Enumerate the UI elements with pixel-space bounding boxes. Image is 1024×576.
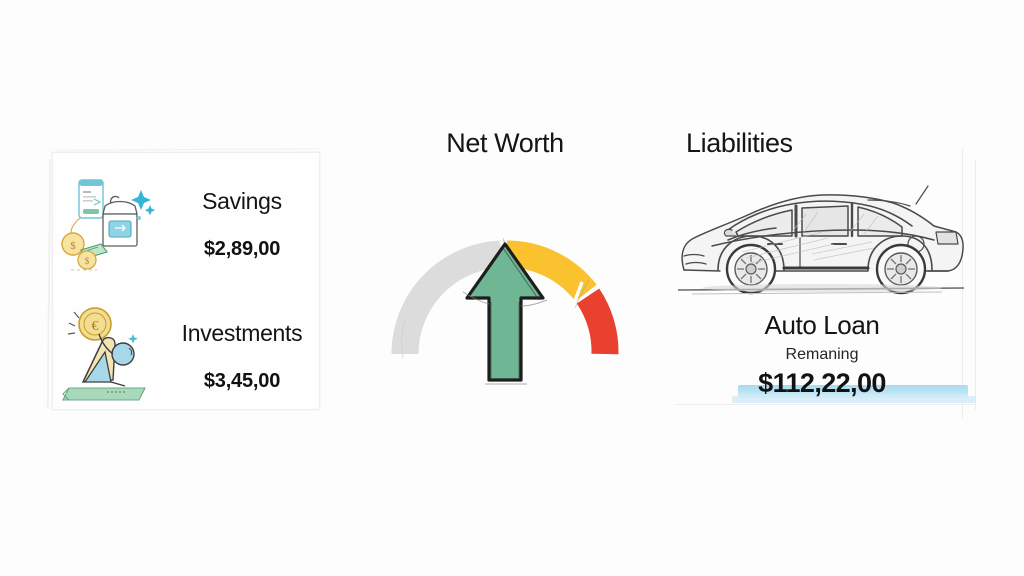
dashboard-canvas: $ $ xyxy=(0,0,1024,576)
loan-name: Auto Loan xyxy=(765,310,880,341)
assets-card: $ $ xyxy=(52,152,320,410)
liabilities-title: Liabilities xyxy=(672,128,992,159)
savings-illustration-icon: $ $ xyxy=(53,172,165,276)
asset-amount-investments: $3,45,00 xyxy=(204,371,280,391)
svg-text:$: $ xyxy=(70,240,76,252)
svg-text:€: € xyxy=(92,319,99,334)
liabilities-panel: Liabilities xyxy=(672,128,992,428)
liability-details: Auto Loan Remaning $112,22,00 xyxy=(672,310,972,399)
asset-row-investments[interactable]: € xyxy=(53,301,319,411)
asset-amount-savings: $2,89,00 xyxy=(204,239,280,259)
asset-label-investments: Investments xyxy=(182,322,303,345)
svg-text:$: $ xyxy=(85,256,90,266)
car-sketch-icon xyxy=(672,170,972,305)
asset-text-investments: Investments $3,45,00 xyxy=(165,322,319,391)
loan-sublabel: Remaning xyxy=(786,346,859,364)
asset-text-savings: Savings $2,89,00 xyxy=(165,190,319,259)
asset-row-savings[interactable]: $ $ xyxy=(53,169,319,279)
asset-label-savings: Savings xyxy=(202,190,282,213)
loan-amount: $112,22,00 xyxy=(758,368,886,399)
loan-amount-wrap: $112,22,00 xyxy=(758,368,886,399)
net-worth-panel: Net Worth xyxy=(355,128,655,418)
up-arrow-icon xyxy=(457,238,553,386)
investments-illustration-icon: € xyxy=(53,304,165,408)
net-worth-gauge xyxy=(383,186,627,386)
net-worth-title: Net Worth xyxy=(355,128,655,159)
